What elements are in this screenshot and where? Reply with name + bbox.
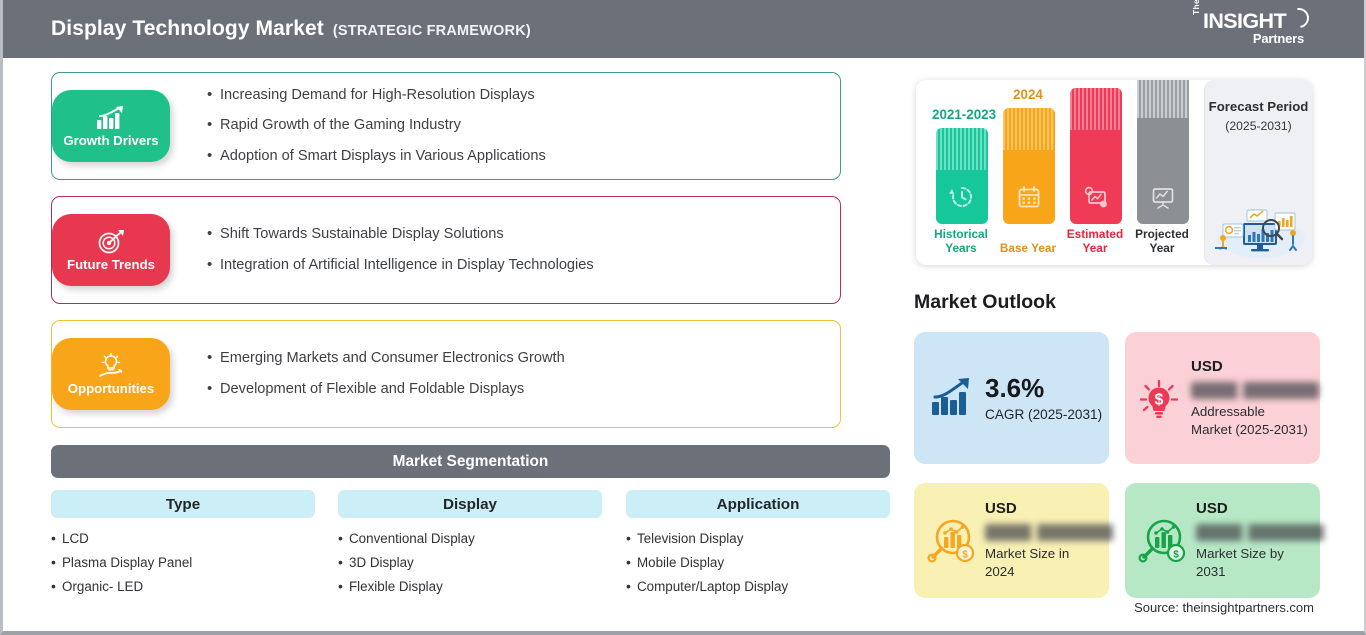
forecast-bar-year: 2025 bbox=[1066, 80, 1124, 82]
currency-label: USD bbox=[1196, 500, 1324, 517]
lightbulb-dollar-icon: $ bbox=[1135, 374, 1183, 422]
currency-label: USD bbox=[1191, 358, 1319, 375]
list-item: Increasing Demand for High-Resolution Di… bbox=[207, 87, 847, 105]
list-item: LCD bbox=[51, 531, 315, 548]
opportunities-bullet-list: Emerging Markets and Consumer Electronic… bbox=[207, 321, 847, 427]
lightbulb-hand-icon bbox=[94, 353, 128, 379]
forecast-period-title: Forecast Period bbox=[1205, 98, 1312, 116]
forecast-bar-caption: Base Year bbox=[999, 242, 1057, 256]
forecast-period-side-panel: Forecast Period (2025-2031) bbox=[1204, 80, 1312, 265]
segment-item-list: Television Display Mobile Display Comput… bbox=[626, 531, 890, 595]
segment-column-title: Type bbox=[166, 496, 200, 513]
svg-text:$: $ bbox=[1155, 392, 1164, 409]
badge-label: Future Trends bbox=[67, 257, 155, 272]
list-item: Integration of Artificial Intelligence i… bbox=[207, 257, 847, 275]
market-infographic-page: Display Technology Market (STRATEGIC FRA… bbox=[0, 0, 1366, 635]
segment-column-type: Type LCD Plasma Display Panel Organic- L… bbox=[51, 490, 315, 602]
page-title: Display Technology Market bbox=[51, 17, 324, 41]
blurred-value bbox=[985, 524, 1113, 541]
list-item: Development of Flexible and Foldable Dis… bbox=[207, 381, 847, 399]
forecast-bar-chart: 2021-2023 Historical Years 2024 bbox=[916, 80, 1204, 265]
logo-arc-icon bbox=[1285, 4, 1313, 32]
outlook-card-market-size-2024[interactable]: $ USD Market Size in 2024 bbox=[914, 483, 1109, 598]
market-outlook-title: Market Outlook bbox=[914, 291, 1056, 314]
card-caption: Market Size by 2031 bbox=[1196, 545, 1311, 581]
logo-text-partners: Partners bbox=[1253, 32, 1304, 45]
badge-growth-drivers[interactable]: Growth Drivers bbox=[52, 90, 170, 162]
logo-text-insight: INSIGHT bbox=[1203, 11, 1286, 33]
segment-column-header: Application bbox=[626, 490, 890, 518]
source-attribution: Source: theinsightpartners.com bbox=[1134, 600, 1314, 615]
bar-chart-growth-icon bbox=[94, 105, 128, 131]
segment-column-header: Display bbox=[338, 490, 602, 518]
page-header: Display Technology Market (STRATEGIC FRA… bbox=[3, 0, 1364, 58]
list-item: Flexible Display bbox=[338, 579, 602, 596]
badge-label: Opportunities bbox=[68, 381, 154, 396]
header-title-group: Display Technology Market (STRATEGIC FRA… bbox=[51, 17, 531, 41]
presentation-screen-icon bbox=[1150, 184, 1176, 210]
list-item: Organic- LED bbox=[51, 579, 315, 596]
card-caption: Addressable Market (2025-2031) bbox=[1191, 403, 1309, 439]
calendar-icon bbox=[1016, 184, 1042, 210]
outlook-card-cagr[interactable]: 3.6% CAGR (2025-2031) bbox=[914, 332, 1109, 464]
badge-label: Growth Drivers bbox=[63, 133, 158, 148]
segment-column-header: Type bbox=[51, 490, 315, 518]
market-segmentation-title: Market Segmentation bbox=[393, 453, 549, 471]
forecast-bar-year: 2024 bbox=[999, 87, 1057, 102]
history-clock-icon bbox=[949, 184, 975, 210]
blurred-value bbox=[1196, 524, 1324, 541]
list-item: Mobile Display bbox=[626, 555, 890, 572]
growth-drivers-bullet-list: Increasing Demand for High-Resolution Di… bbox=[207, 73, 847, 179]
list-item: Plasma Display Panel bbox=[51, 555, 315, 572]
list-item: Adoption of Smart Displays in Various Ap… bbox=[207, 148, 847, 166]
segment-column-application: Application Television Display Mobile Di… bbox=[626, 490, 890, 602]
bar-chart-arrow-up-icon bbox=[928, 376, 976, 420]
list-item: Emerging Markets and Consumer Electronic… bbox=[207, 350, 847, 368]
page-subtitle: (STRATEGIC FRAMEWORK) bbox=[333, 23, 531, 39]
forecast-gear-icon bbox=[1083, 184, 1109, 210]
svg-text:$: $ bbox=[962, 549, 968, 560]
list-item: Television Display bbox=[626, 531, 890, 548]
segment-column-display: Display Conventional Display 3D Display … bbox=[338, 490, 602, 602]
segment-item-list: LCD Plasma Display Panel Organic- LED bbox=[51, 531, 315, 595]
list-item: Conventional Display bbox=[338, 531, 602, 548]
segment-item-list: Conventional Display 3D Display Flexible… bbox=[338, 531, 602, 595]
currency-label: USD bbox=[985, 500, 1113, 517]
insight-partners-logo[interactable]: The INSIGHT Partners bbox=[1192, 8, 1312, 52]
segment-column-title: Display bbox=[443, 496, 497, 513]
outlook-card-addressable-market[interactable]: $ USD Addressable Market (2025-2031) bbox=[1125, 332, 1320, 464]
forecast-period-panel: 2021-2023 Historical Years 2024 bbox=[916, 80, 1312, 265]
forecast-bar-caption: Projected Year bbox=[1133, 228, 1191, 256]
blurred-value bbox=[1191, 382, 1319, 399]
forecast-bar-year: 2021-2023 bbox=[932, 107, 990, 122]
target-dartboard-icon bbox=[94, 229, 128, 255]
forecast-bar-caption: Estimated Year bbox=[1066, 228, 1124, 256]
forecast-bar-caption: Historical Years bbox=[932, 228, 990, 256]
badge-opportunities[interactable]: Opportunities bbox=[52, 338, 170, 410]
card-caption: Market Size in 2024 bbox=[985, 545, 1100, 581]
outlook-card-market-size-2031[interactable]: $ USD Market Size by 2031 bbox=[1125, 483, 1320, 598]
list-item: Shift Towards Sustainable Display Soluti… bbox=[207, 226, 847, 244]
cagr-value: 3.6% bbox=[985, 375, 1102, 401]
logo-text-the: The bbox=[1192, 0, 1201, 15]
magnifier-bar-chart-icon: $ bbox=[926, 515, 978, 567]
list-item: 3D Display bbox=[338, 555, 602, 572]
business-analytics-illustration bbox=[1209, 197, 1309, 259]
segment-column-title: Application bbox=[717, 496, 800, 513]
future-trends-bullet-list: Shift Towards Sustainable Display Soluti… bbox=[207, 197, 847, 303]
svg-text:$: $ bbox=[1173, 549, 1179, 560]
market-segmentation-header: Market Segmentation bbox=[51, 445, 890, 478]
forecast-period-range: (2025-2031) bbox=[1205, 119, 1312, 133]
list-item: Computer/Laptop Display bbox=[626, 579, 890, 596]
cagr-caption: CAGR (2025-2031) bbox=[985, 407, 1102, 422]
magnifier-bar-chart-icon: $ bbox=[1137, 515, 1189, 567]
list-item: Rapid Growth of the Gaming Industry bbox=[207, 117, 847, 135]
badge-future-trends[interactable]: Future Trends bbox=[52, 214, 170, 286]
